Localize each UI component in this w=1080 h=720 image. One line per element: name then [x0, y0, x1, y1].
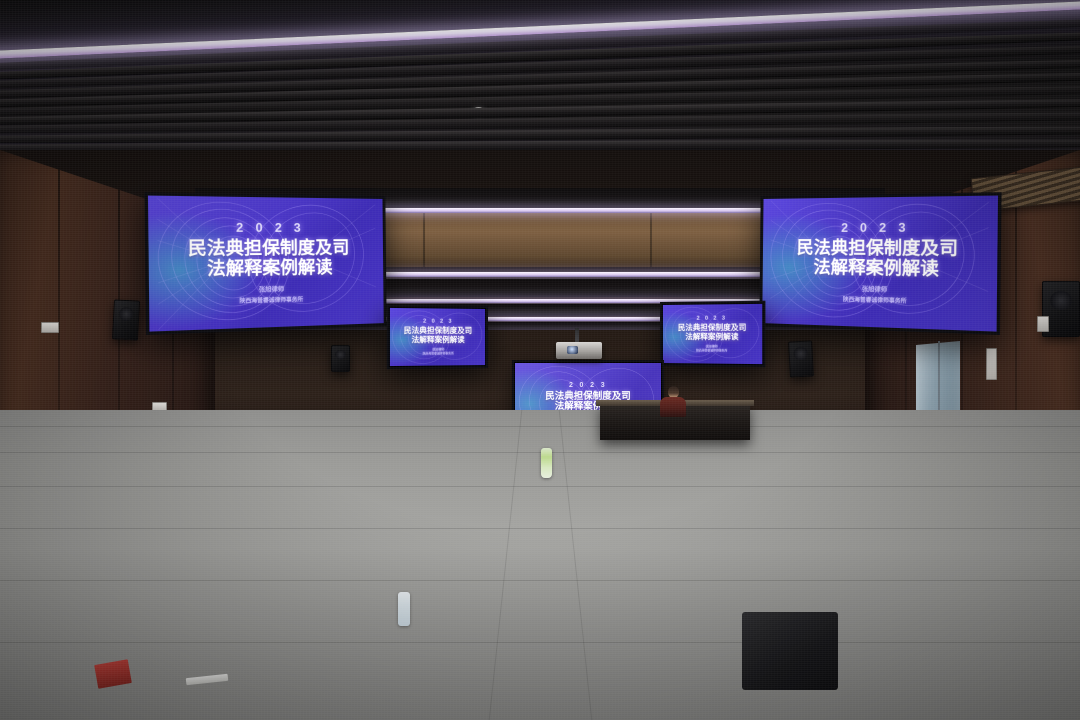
display-bezel: [759, 192, 1001, 335]
wall-speaker-left-far: [331, 345, 350, 372]
wall-speaker-right: [788, 340, 814, 377]
projector-lens-icon: [567, 346, 578, 354]
laptop-bag: [742, 612, 838, 690]
wall-speaker-left: [112, 299, 140, 340]
wall-display-left[interactable]: 2 0 2 3 民法典担保制度及司 法解释案例解读 张旭律师 陕西海普睿诚律师事…: [144, 192, 386, 335]
display-bezel: [660, 301, 765, 368]
wall-display-right[interactable]: 2 0 2 3 民法典担保制度及司 法解释案例解读 张旭律师 陕西海普睿诚律师事…: [759, 192, 1001, 335]
display-bezel: [387, 305, 488, 369]
ceiling-projector: [556, 342, 602, 359]
wall-outlet-right: [986, 348, 997, 380]
wall-display-right-small[interactable]: 2 0 2 3 民法典担保制度及司 法解释案例解读 张旭律师 陕西海普睿诚律师事…: [660, 301, 765, 368]
wall-outlet-left-upper: [41, 322, 59, 333]
water-bottle-green: [541, 448, 552, 478]
wall-display-left-small[interactable]: 2 0 2 3 民法典担保制度及司 法解释案例解读 张旭律师 陕西海普睿诚律师事…: [387, 305, 488, 369]
water-bottle-clear: [398, 592, 410, 626]
audience: [0, 390, 1080, 720]
conference-hall-scene: 2 0 2 3 民法典担保制度及司 法解释案例解读 张旭律师 陕西海普睿诚律师事…: [0, 0, 1080, 720]
wall-plate-right: [1037, 316, 1049, 332]
display-bezel: [144, 192, 386, 335]
